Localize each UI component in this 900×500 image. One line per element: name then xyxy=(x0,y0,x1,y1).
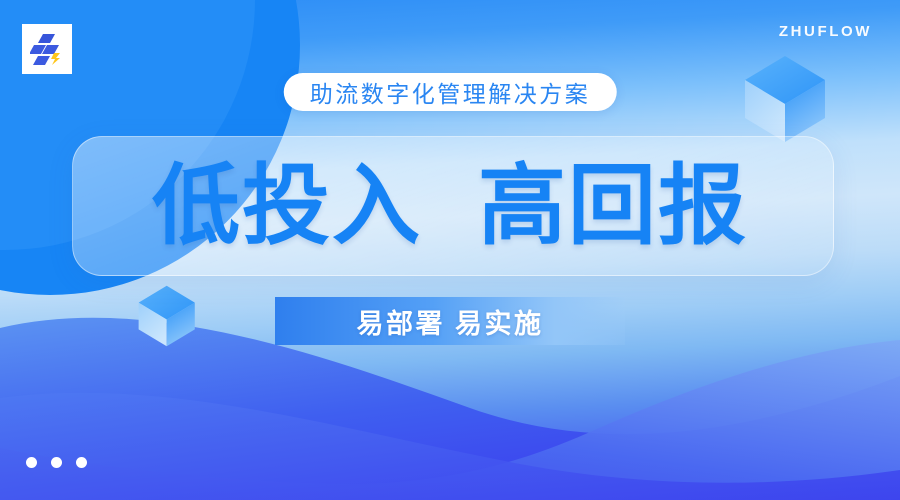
brand-name: ZHUFLOW xyxy=(779,23,872,40)
tagline-text: 易部署 易实施 xyxy=(356,302,543,341)
tagline-banner: 易部署 易实施 xyxy=(275,297,625,345)
promotional-banner: ZHUFLOW 助流数字化管理解决方案 低投入 高回报 易部署 易实施 xyxy=(0,0,900,500)
pagination-dot-2[interactable] xyxy=(51,457,62,468)
pagination-dot-1[interactable] xyxy=(26,457,37,468)
brand-logo xyxy=(22,24,72,74)
subtitle-pill: 助流数字化管理解决方案 xyxy=(284,73,617,111)
subtitle-text: 助流数字化管理解决方案 xyxy=(310,75,591,109)
pagination-dot-3[interactable] xyxy=(76,457,87,468)
zhuflow-lightning-blocks-logo-icon xyxy=(30,32,64,66)
cube-icon-bottom-left xyxy=(133,283,199,349)
headline-glass-card xyxy=(72,136,834,276)
pagination-dots[interactable] xyxy=(26,457,87,468)
cube-icon-top-right xyxy=(737,52,831,146)
